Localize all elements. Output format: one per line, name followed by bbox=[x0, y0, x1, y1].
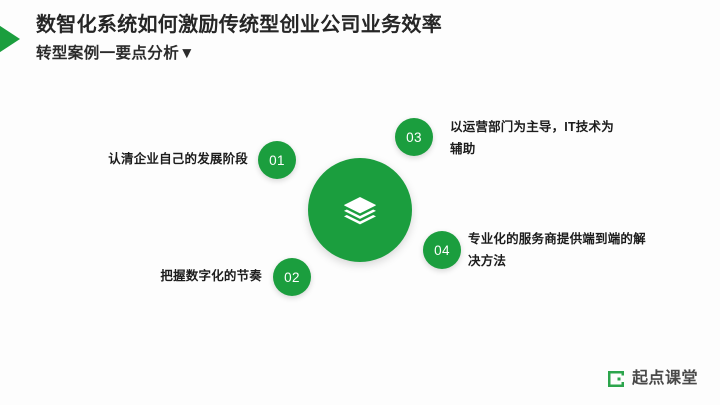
page-title: 数智化系统如何激励传统型创业公司业务效率 bbox=[36, 12, 676, 38]
slide-header: 数智化系统如何激励传统型创业公司业务效率 转型案例一要点分析▼ bbox=[0, 0, 720, 80]
page-subtitle: 转型案例一要点分析▼ bbox=[36, 43, 676, 64]
hub-circle[interactable] bbox=[308, 158, 412, 262]
layers-stack-icon bbox=[343, 195, 377, 225]
node-label-01: 认清企业自己的发展阶段 bbox=[40, 148, 248, 170]
node-circle-03[interactable]: 03 bbox=[395, 118, 433, 156]
node-label-03: 以运营部门为主导，IT技术为辅助 bbox=[450, 116, 616, 160]
node-circle-04[interactable]: 04 bbox=[423, 231, 461, 269]
title-block: 数智化系统如何激励传统型创业公司业务效率 转型案例一要点分析▼ bbox=[36, 12, 676, 64]
triangle-right-icon bbox=[0, 22, 20, 56]
bracket-logo-icon bbox=[606, 369, 626, 389]
watermark: 起点课堂 bbox=[606, 369, 698, 389]
node-circle-01[interactable]: 01 bbox=[258, 141, 296, 179]
hub-and-spoke-diagram: 01 认清企业自己的发展阶段 02 把握数字化的节奏 03 以运营部门为主导，I… bbox=[0, 80, 720, 350]
node-label-02: 把握数字化的节奏 bbox=[90, 265, 262, 287]
node-label-04: 专业化的服务商提供端到端的解决方法 bbox=[468, 228, 646, 272]
slide-canvas: 数智化系统如何激励传统型创业公司业务效率 转型案例一要点分析▼ 01 认清企业自… bbox=[0, 0, 720, 405]
watermark-text: 起点课堂 bbox=[632, 370, 698, 388]
node-circle-02[interactable]: 02 bbox=[273, 258, 311, 296]
